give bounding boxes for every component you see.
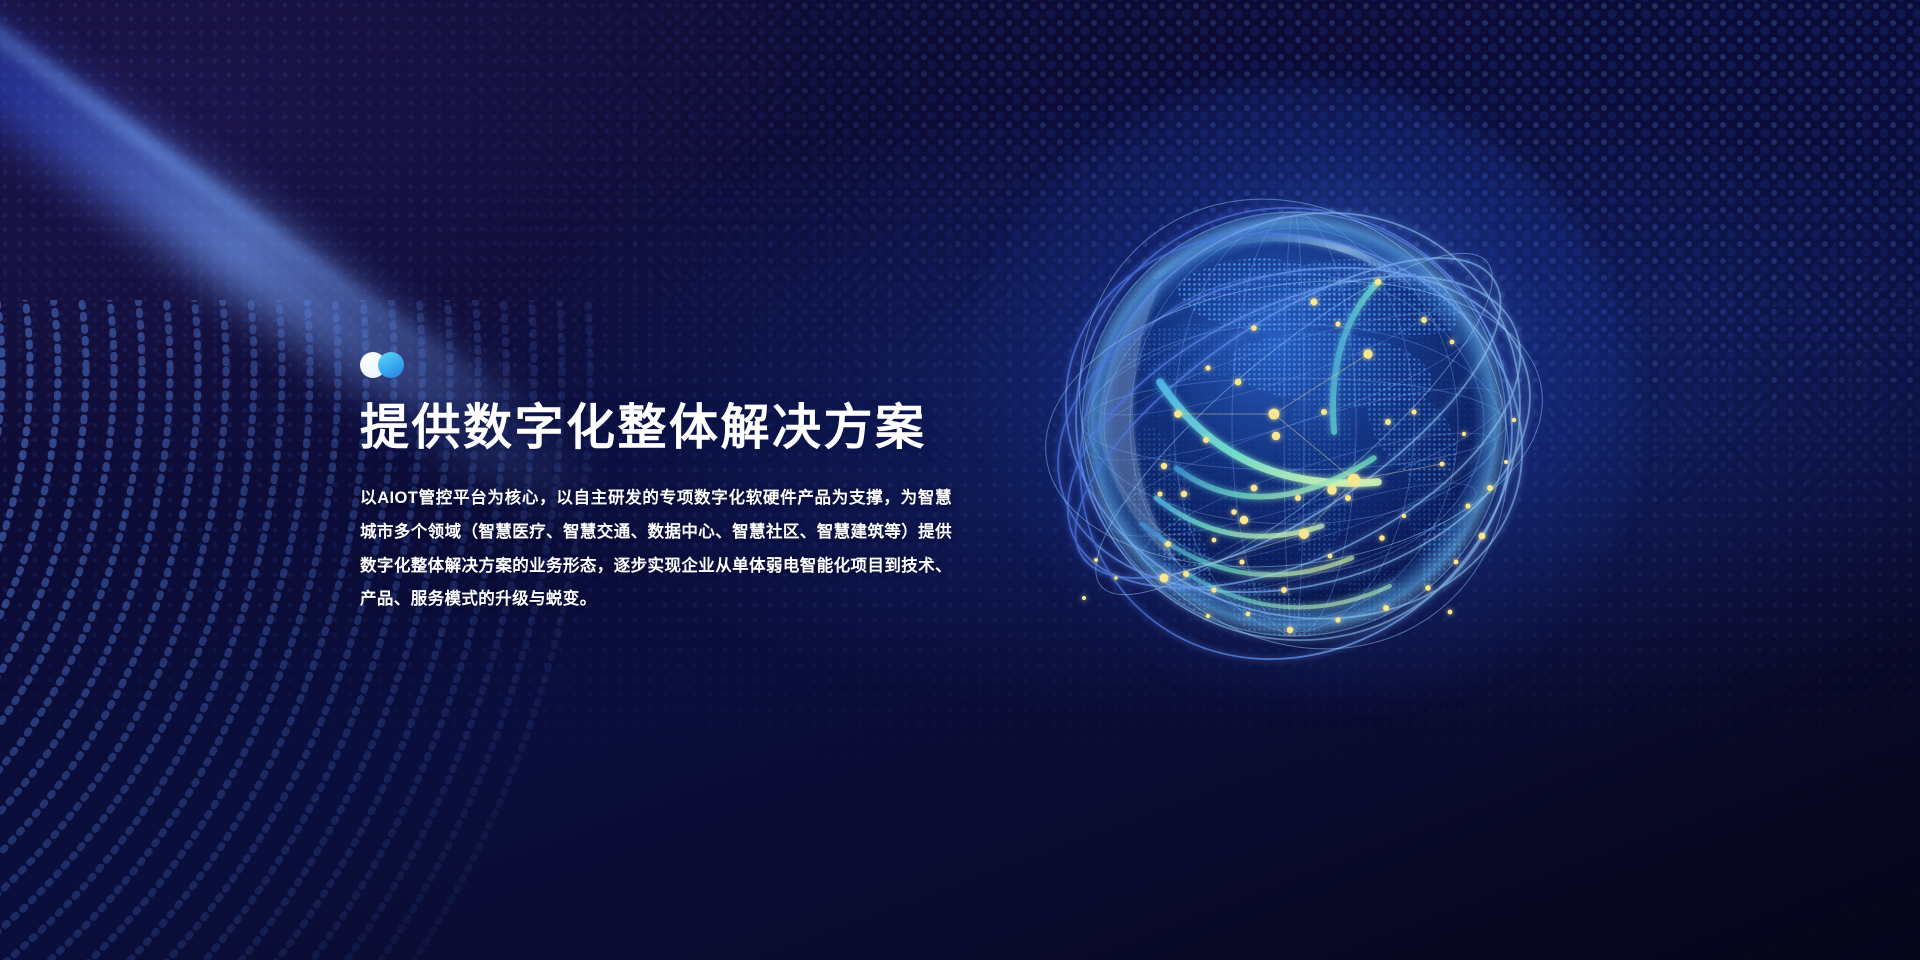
hero-content: 提供数字化整体解决方案 以AIOT管控平台为核心，以自主研发的专项数字化软硬件产… [360,352,960,617]
accent-circle-blue-icon [378,352,404,378]
page-description: 以AIOT管控平台为核心，以自主研发的专项数字化软硬件产品为支撑，为智慧城市多个… [360,482,952,617]
dual-dot-accent-icon [360,352,422,378]
digital-globe [1038,168,1550,680]
hero-banner: 提供数字化整体解决方案 以AIOT管控平台为核心，以自主研发的专项数字化软硬件产… [0,0,1920,960]
page-title: 提供数字化整体解决方案 [360,402,960,456]
